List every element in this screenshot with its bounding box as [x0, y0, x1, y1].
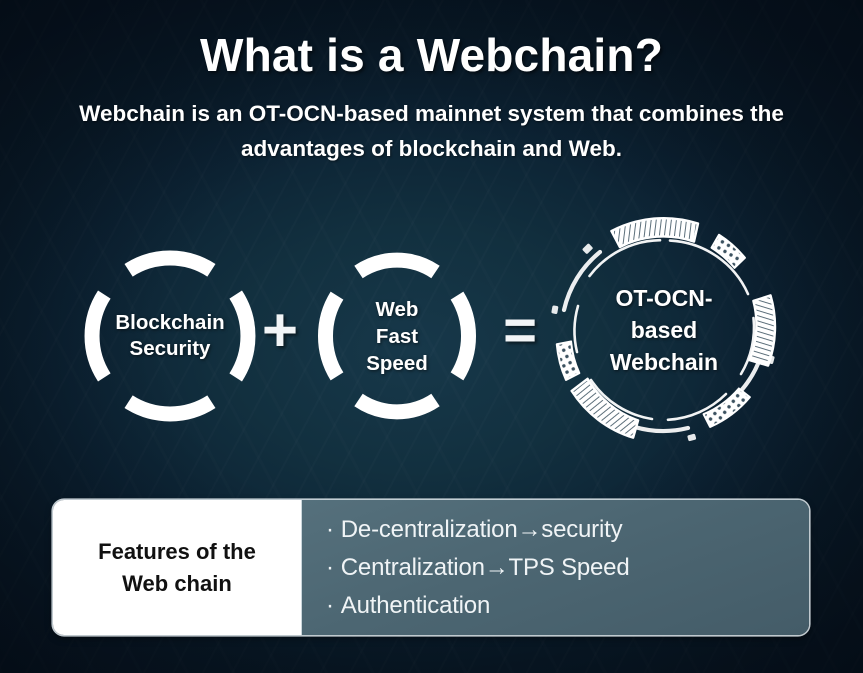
operator-equals-icon: = [492, 302, 548, 360]
operator-plus-icon: + [258, 300, 302, 362]
page-title: What is a Webchain? [0, 28, 863, 82]
list-item: ·Authentication [326, 587, 809, 625]
dashed-ring-icon [317, 252, 477, 420]
features-title-line-2: Web chain [98, 568, 256, 600]
slide-canvas: What is a Webchain? Webchain is an OT-OC… [0, 0, 863, 673]
hud-tech-ring-icon [548, 214, 780, 446]
bullet-icon: · [326, 516, 334, 543]
features-title: Features of the Web chain [53, 500, 301, 635]
subtitle-line-1: Webchain is an OT-OCN-based mainnet syst… [0, 96, 863, 131]
list-item: ·Centralization→TPS Speed [326, 549, 809, 587]
features-list: ·De-centralization→security ·Centralizat… [301, 500, 809, 635]
ring-blockchain-security: Blockchain Security [84, 250, 256, 422]
list-item: ·De-centralization→security [326, 511, 809, 549]
ring-web-fast-speed: Web Fast Speed [317, 252, 477, 420]
list-item-label: Authentication [341, 592, 490, 619]
features-panel: Features of the Web chain ·De-centraliza… [53, 500, 809, 635]
bullet-icon: · [326, 592, 334, 619]
list-item-label: De-centralization→security [341, 516, 623, 543]
page-subtitle: Webchain is an OT-OCN-based mainnet syst… [0, 96, 863, 166]
subtitle-line-2: advantages of blockchain and Web. [0, 131, 863, 166]
features-title-line-1: Features of the [98, 536, 256, 568]
dashed-ring-icon [84, 250, 256, 422]
bullet-icon: · [326, 554, 334, 581]
ring-otocn-webchain: OT-OCN- based Webchain [548, 214, 780, 446]
list-item-label: Centralization→TPS Speed [341, 554, 630, 581]
